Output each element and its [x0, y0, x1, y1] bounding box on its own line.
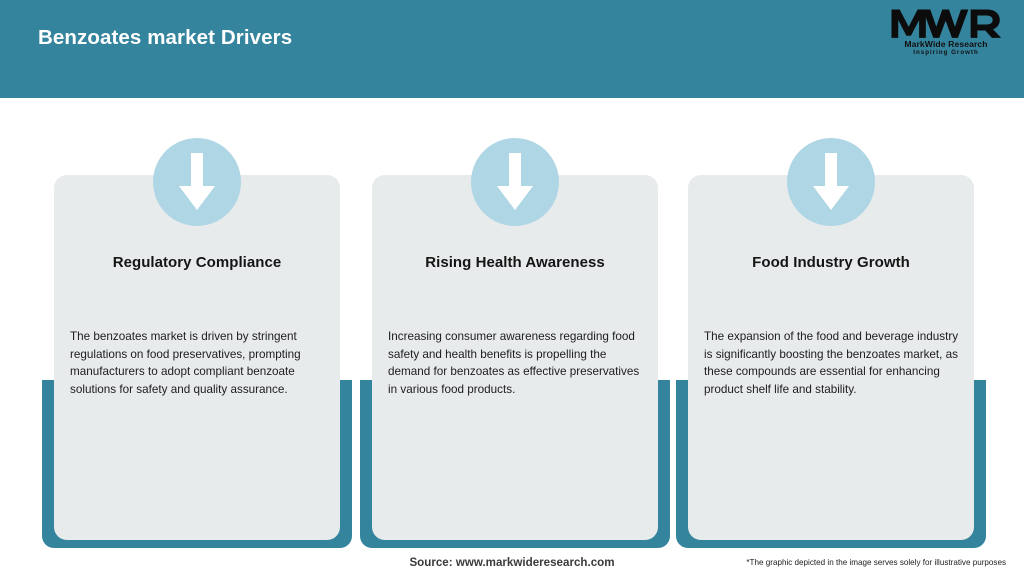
- arrow-down-icon: [787, 138, 875, 226]
- disclaimer-note: *The graphic depicted in the image serve…: [746, 558, 1006, 567]
- driver-card[interactable]: Food Industry Growth The expansion of th…: [676, 0, 986, 576]
- card-panel: Regulatory Compliance The benzoates mark…: [54, 175, 340, 540]
- card-title: Regulatory Compliance: [68, 254, 326, 271]
- arrow-down-icon: [471, 138, 559, 226]
- arrow-down-icon: [153, 138, 241, 226]
- card-panel: Rising Health Awareness Increasing consu…: [372, 175, 658, 540]
- card-title: Rising Health Awareness: [386, 254, 644, 271]
- slide-canvas: Benzoates market Drivers MarkWide Resear…: [0, 0, 1024, 576]
- driver-card[interactable]: Rising Health Awareness Increasing consu…: [360, 0, 670, 576]
- card-title: Food Industry Growth: [702, 254, 960, 271]
- card-body-text: The benzoates market is driven by string…: [70, 328, 332, 398]
- card-body-text: The expansion of the food and beverage i…: [704, 328, 966, 398]
- card-body-text: Increasing consumer awareness regarding …: [388, 328, 650, 398]
- card-panel: Food Industry Growth The expansion of th…: [688, 175, 974, 540]
- driver-card[interactable]: Regulatory Compliance The benzoates mark…: [42, 0, 352, 576]
